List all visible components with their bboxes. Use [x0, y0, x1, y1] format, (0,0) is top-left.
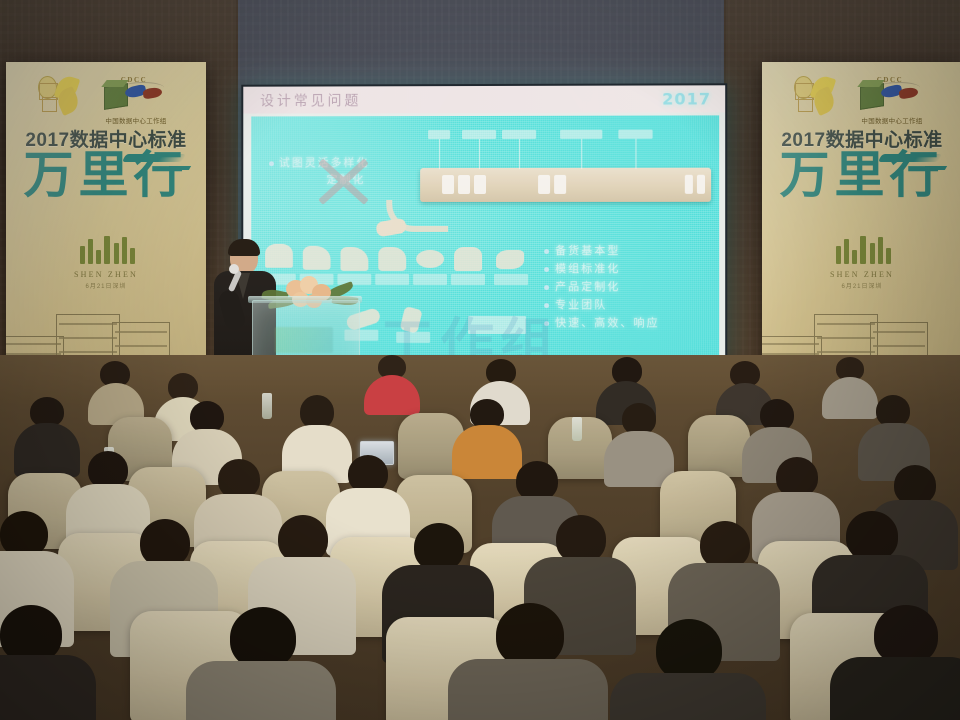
list-item: 专业团队: [544, 296, 705, 314]
water-bottle-icon: [262, 393, 272, 419]
list-item: 产品定制化: [544, 278, 705, 296]
list-item: 备货基本型: [544, 242, 705, 260]
water-bottle-icon: [572, 417, 582, 441]
list-item: 快速、高效、响应: [544, 314, 705, 332]
chair: [688, 415, 750, 477]
slide-year-badge: 2017: [662, 89, 711, 108]
conference-photo-scene: CDCC 中国数据中心工作组 2017数据中心标准 万里行 SHEN ZHEN …: [0, 0, 960, 720]
cross-out-icon: [313, 150, 375, 212]
list-item: 模组标准化: [544, 260, 705, 278]
pdu-diagram: [420, 168, 711, 202]
microphone-head-icon: [229, 264, 239, 274]
slide-right-bullets: 备货基本型 模组标准化 产品定制化 专业团队 快速、高效、响应: [544, 242, 705, 332]
podium-logo: [275, 327, 333, 353]
audience-area: [0, 355, 960, 720]
slide-title: 设计常见问题: [260, 90, 361, 110]
